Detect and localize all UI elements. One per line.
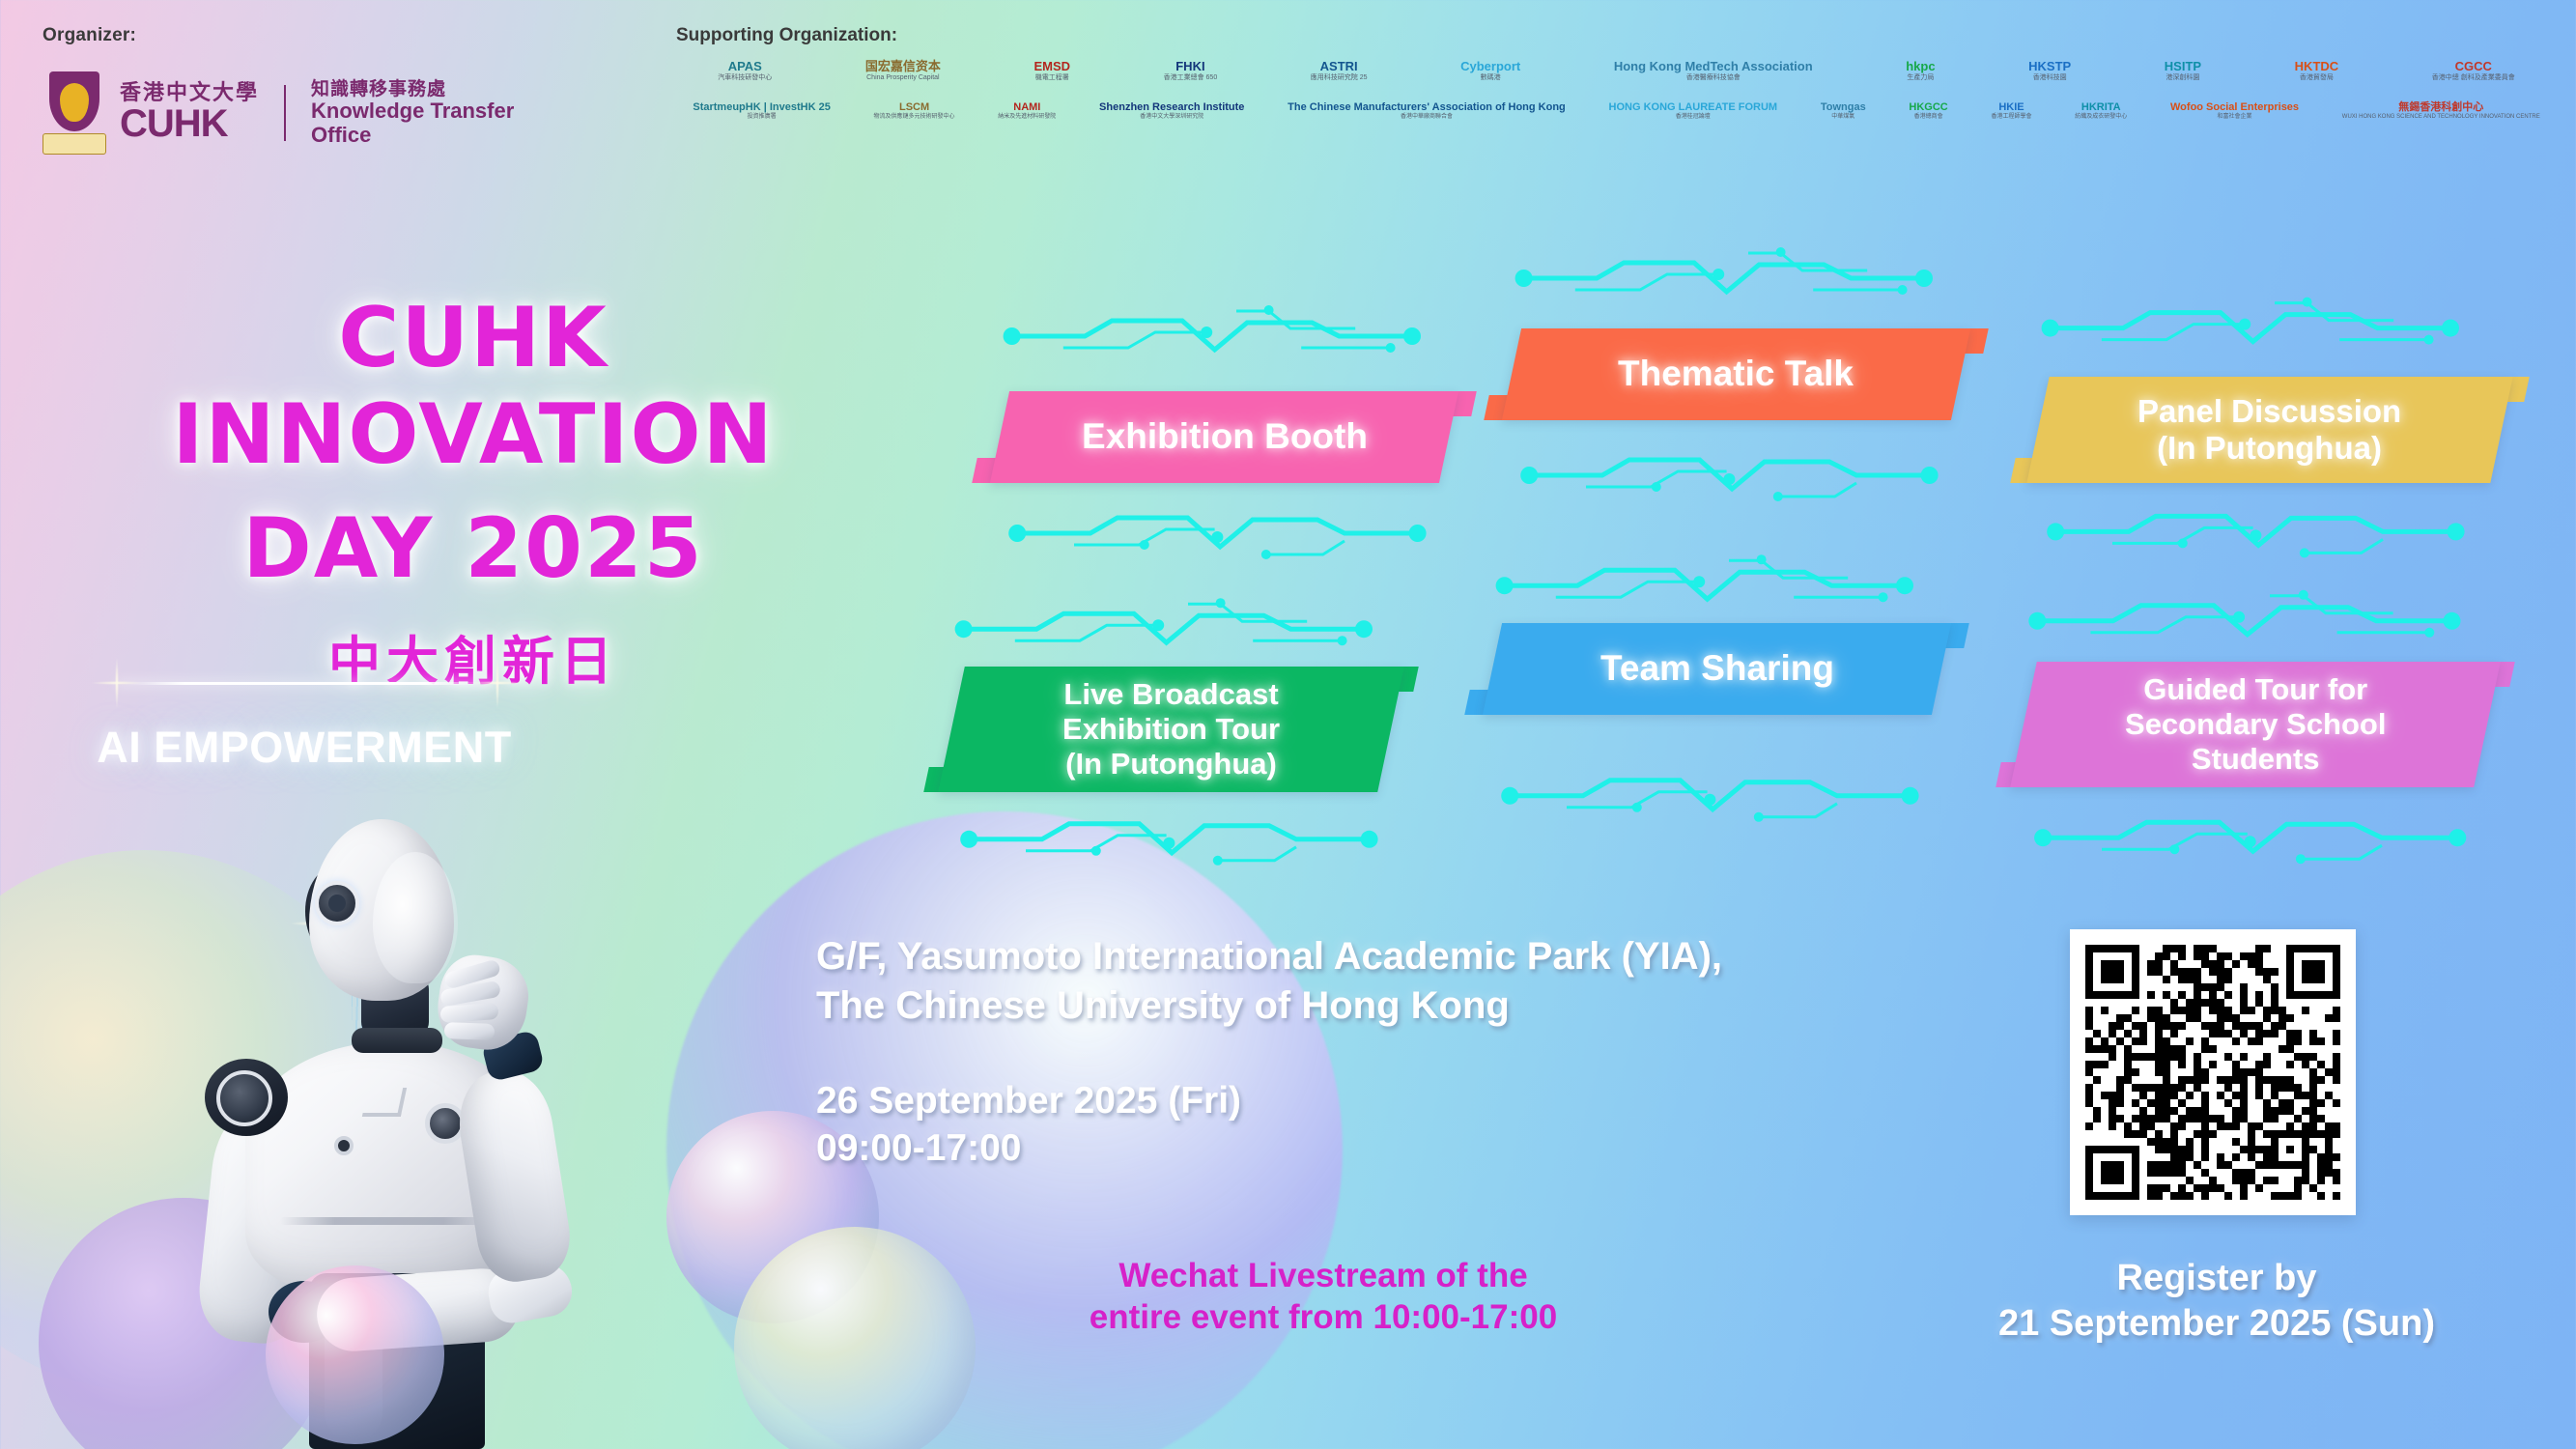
register-line-1: Register by xyxy=(1874,1256,2560,1301)
wechat-line-2: entire event from 10:00-17:00 xyxy=(1024,1297,1623,1339)
venue-line-2: The Chinese University of Hong Kong xyxy=(816,981,1956,1031)
supporting-logo-row-1: APAS汽車科技研發中心国宏嘉信资本China Prosperity Capit… xyxy=(676,58,2557,84)
cuhk-name-en: CUHK xyxy=(120,103,259,145)
supporting-org-logo: HONG KONG LAUREATE FORUM香港桂冠論壇 xyxy=(1592,99,1794,123)
program-banner-label: Thematic Talk xyxy=(1618,354,1854,395)
program-banner-label: Live BroadcastExhibition Tour(In Putongh… xyxy=(1062,677,1280,781)
registration-qr-code[interactable] xyxy=(2070,929,2356,1215)
program-banner-label: Team Sharing xyxy=(1600,648,1834,690)
cuhk-name-zh: 香港中文大學 xyxy=(120,81,259,104)
supporting-org-logo: HKIE香港工程師學會 xyxy=(1974,99,2049,123)
venue-block: G/F, Yasumoto International Academic Par… xyxy=(816,932,1956,1031)
supporting-organizations-block: Supporting Organization: APAS汽車科技研發中心国宏嘉… xyxy=(676,25,2557,123)
supporting-org-logo: LSCM物流及供應鏈多元技術研發中心 xyxy=(857,99,972,123)
sparkle-icon-right xyxy=(471,657,524,709)
supporting-org-logo: Cyberport數碼港 xyxy=(1419,58,1563,84)
supporting-org-logo: HKSTP香港科技園 xyxy=(1987,58,2113,84)
organizer-label: Organizer: xyxy=(42,25,514,46)
supporting-org-logo: HSITP港深創科園 xyxy=(2123,58,2244,84)
supporting-org-logo: 無錫香港科創中心WUXI HONG KONG SCIENCE AND TECHN… xyxy=(2325,99,2557,123)
supporting-org-logo: CGCC香港中總 創科及產業委員會 xyxy=(2390,58,2557,84)
title-block: CUHK INNOVATION DAY 2025 中大創新日 xyxy=(39,290,908,695)
supporting-org-logo: 国宏嘉信资本China Prosperity Capital xyxy=(824,58,983,84)
program-banner[interactable]: Guided Tour forSecondary SchoolStudents xyxy=(2010,662,2501,787)
supporting-org-logo: StartmeupHK | InvestHK 25投資推廣署 xyxy=(676,99,847,123)
supporting-org-logo: The Chinese Manufacturers' Association o… xyxy=(1271,99,1582,123)
program-banner[interactable]: Exhibition Booth xyxy=(990,391,1458,483)
supporting-org-logo: APAS汽車科技研發中心 xyxy=(676,58,814,84)
logo-divider xyxy=(284,85,286,141)
program-banner[interactable]: Thematic Talk xyxy=(1502,328,1970,420)
program-banner-label: Exhibition Booth xyxy=(1082,416,1368,458)
supporting-org-logo: HKTDC香港貿發局 xyxy=(2252,58,2380,84)
robot-illustration xyxy=(145,811,628,1449)
organizer-block: Organizer: 香港中文大學 CUHK 知識轉移事務處 Knowledge… xyxy=(42,25,514,155)
program-banner-label: Guided Tour forSecondary SchoolStudents xyxy=(2125,672,2386,777)
qr-code-image xyxy=(2085,945,2340,1200)
decorative-bubble-2 xyxy=(734,1227,976,1449)
program-banner[interactable]: Team Sharing xyxy=(1483,623,1951,715)
supporting-org-logo: NAMI納米及先進材料研發院 xyxy=(981,99,1073,123)
wechat-livestream-note: Wechat Livestream of the entire event fr… xyxy=(1024,1256,1623,1338)
title-divider xyxy=(97,676,512,690)
register-deadline-note: Register by 21 September 2025 (Sun) xyxy=(1874,1256,2560,1347)
kto-name-zh: 知識轉移事務處 xyxy=(311,79,514,99)
cuhk-logo: 香港中文大學 CUHK 知識轉移事務處 Knowledge Transfer O… xyxy=(42,71,514,155)
supporting-org-logo: Wofoo Social Enterprises和富社會企業 xyxy=(2154,99,2316,123)
event-date: 26 September 2025 (Fri) xyxy=(816,1077,1685,1124)
supporting-org-logo: hkpc生產力局 xyxy=(1864,58,1977,84)
supporting-org-logo: EMSD機電工程署 xyxy=(992,58,1112,84)
kto-name-en-line2: Office xyxy=(311,124,514,148)
cuhk-crest-icon xyxy=(42,71,106,155)
supporting-org-logo: Hong Kong MedTech Association香港醫療科技協會 xyxy=(1572,58,1854,84)
cuhk-name: 香港中文大學 CUHK xyxy=(120,81,259,146)
page-title-line-2: DAY 2025 xyxy=(39,500,908,597)
supporting-org-logo: HKRITA紡織及成衣研發中心 xyxy=(2058,99,2144,123)
supporting-org-logo: HKGCC香港總商會 xyxy=(1892,99,1965,123)
supporting-logo-row-2: StartmeupHK | InvestHK 25投資推廣署LSCM物流及供應鏈… xyxy=(676,99,2557,123)
register-line-2: 21 September 2025 (Sun) xyxy=(1874,1301,2560,1347)
kto-name: 知識轉移事務處 Knowledge Transfer Office xyxy=(311,79,514,148)
tagline: AI EMPOWERMENT xyxy=(97,723,512,773)
supporting-org-logo: FHKI香港工業總會 650 xyxy=(1121,58,1259,84)
supporting-org-logo: Shenzhen Research Institute香港中文大學深圳研究院 xyxy=(1083,99,1261,123)
supporting-org-logo: ASTRI應用科技研究院 25 xyxy=(1269,58,1409,84)
date-block: 26 September 2025 (Fri) 09:00-17:00 xyxy=(816,1077,1685,1172)
program-banner[interactable]: Panel Discussion(In Putonghua) xyxy=(2026,377,2512,483)
program-banner[interactable]: Live BroadcastExhibition Tour(In Putongh… xyxy=(938,667,1404,792)
wechat-line-1: Wechat Livestream of the xyxy=(1024,1256,1623,1297)
page-title-line-1: CUHK INNOVATION xyxy=(39,290,908,483)
sparkle-icon-left xyxy=(91,657,143,709)
supporting-org-logo: Towngas中華煤氣 xyxy=(1803,99,1882,123)
supporting-organizations-label: Supporting Organization: xyxy=(676,25,2557,46)
event-time: 09:00-17:00 xyxy=(816,1124,1685,1172)
venue-line-1: G/F, Yasumoto International Academic Par… xyxy=(816,932,1956,981)
program-banner-label: Panel Discussion(In Putonghua) xyxy=(2137,393,2401,468)
kto-name-en-line1: Knowledge Transfer xyxy=(311,99,514,124)
